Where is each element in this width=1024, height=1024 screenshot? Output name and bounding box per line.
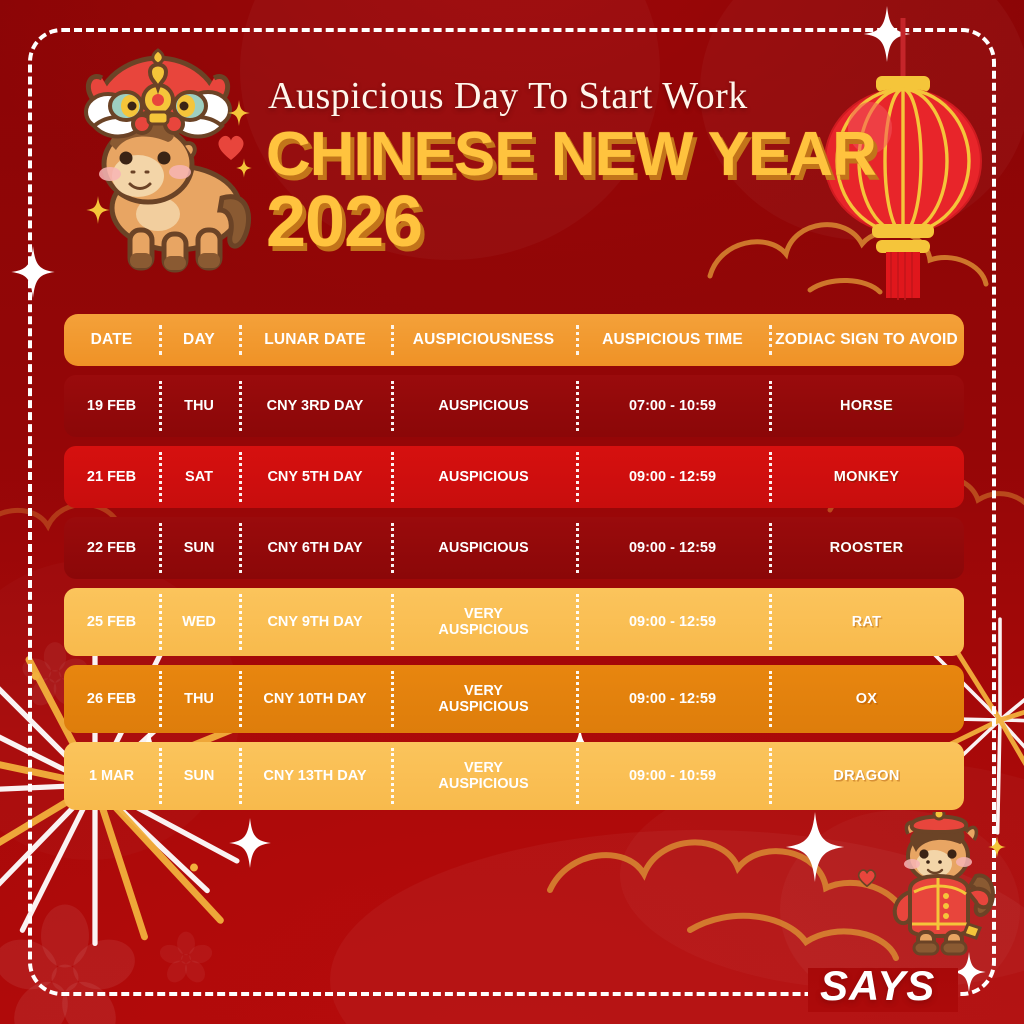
cell-zodiac: MONKEY xyxy=(769,469,964,485)
cell-date: 1 MAR xyxy=(64,768,159,784)
cell-divider xyxy=(576,523,579,573)
column-divider xyxy=(576,325,579,355)
tagline: Auspicious Day To Start Work xyxy=(268,74,748,118)
cell-divider xyxy=(159,523,162,573)
heart-icon xyxy=(216,133,246,161)
cell-lunar-date: CNY 13TH DAY xyxy=(239,768,391,784)
cell-divider xyxy=(159,748,162,804)
cell-date: 26 FEB xyxy=(64,691,159,707)
cell-divider xyxy=(576,748,579,804)
cell-date: 19 FEB xyxy=(64,398,159,414)
cell-time: 09:00 - 12:59 xyxy=(576,614,769,630)
cell-divider xyxy=(391,594,394,650)
cell-day: THU xyxy=(159,691,239,707)
cell-auspiciousness: VERY AUSPICIOUS xyxy=(424,760,544,792)
brand-logo[interactable]: SAYS xyxy=(820,962,935,1010)
cell-lunar-date: CNY 6TH DAY xyxy=(239,540,391,556)
cell-lunar-date: CNY 9TH DAY xyxy=(239,614,391,630)
cell-lunar-date: CNY 3RD DAY xyxy=(239,398,391,414)
cell-divider xyxy=(576,381,579,431)
cell-date: 25 FEB xyxy=(64,614,159,630)
cell-divider xyxy=(391,452,394,502)
cell-auspiciousness: AUSPICIOUS xyxy=(391,398,576,414)
cell-divider xyxy=(576,671,579,727)
cell-auspiciousness: VERY AUSPICIOUS xyxy=(424,683,544,715)
cell-divider xyxy=(769,748,772,804)
column-divider xyxy=(769,325,772,355)
cny-poster: Auspicious Day To Start Work CHINESE NEW… xyxy=(0,0,1024,1024)
cell-divider xyxy=(391,523,394,573)
cell-divider xyxy=(576,594,579,650)
cell-divider xyxy=(769,381,772,431)
cell-divider xyxy=(391,381,394,431)
cell-divider xyxy=(769,452,772,502)
page-title: CHINESE NEW YEAR xyxy=(266,124,876,186)
cell-divider xyxy=(159,671,162,727)
table-row[interactable]: 1 MAR SUN CNY 13TH DAY VERY AUSPICIOUS 0… xyxy=(64,742,964,810)
cell-divider xyxy=(159,381,162,431)
cell-zodiac: DRAGON xyxy=(769,768,964,784)
cell-divider xyxy=(769,523,772,573)
cell-divider xyxy=(769,671,772,727)
column-divider xyxy=(391,325,394,355)
column-header-auspiciousness: AUSPICIOUSNESS xyxy=(391,331,576,349)
table-row[interactable]: 26 FEB THU CNY 10TH DAY VERY AUSPICIOUS … xyxy=(64,665,964,733)
column-divider xyxy=(239,325,242,355)
cell-time: 09:00 - 12:59 xyxy=(576,469,769,485)
year-title: 2026 xyxy=(266,186,422,258)
table-row[interactable]: 22 FEB SUN CNY 6TH DAY AUSPICIOUS 09:00 … xyxy=(64,517,964,579)
cell-divider xyxy=(239,523,242,573)
column-header-auspicious-time: AUSPICIOUS TIME xyxy=(576,331,769,349)
cell-zodiac: OX xyxy=(769,691,964,707)
cell-divider xyxy=(239,452,242,502)
cell-divider xyxy=(391,671,394,727)
column-header-lunar-date: LUNAR DATE xyxy=(239,331,391,349)
cell-divider xyxy=(239,594,242,650)
cell-date: 22 FEB xyxy=(64,540,159,556)
horse-chinese-outfit-mascot xyxy=(880,812,1002,958)
cell-time: 07:00 - 10:59 xyxy=(576,398,769,414)
cell-divider xyxy=(239,748,242,804)
cell-day: SUN xyxy=(159,768,239,784)
table-row[interactable]: 19 FEB THU CNY 3RD DAY AUSPICIOUS 07:00 … xyxy=(64,375,964,437)
sparkle-icon xyxy=(86,196,110,224)
cell-divider xyxy=(159,594,162,650)
heart-icon xyxy=(857,868,877,887)
column-header-day: DAY xyxy=(159,331,239,349)
cell-auspiciousness: VERY AUSPICIOUS xyxy=(424,606,544,638)
cell-zodiac: RAT xyxy=(769,614,964,630)
cell-divider xyxy=(239,671,242,727)
table-row[interactable]: 25 FEB WED CNY 9TH DAY VERY AUSPICIOUS 0… xyxy=(64,588,964,656)
cell-divider xyxy=(159,452,162,502)
auspicious-days-table: DATE DAY LUNAR DATE AUSPICIOUSNESS AUSPI… xyxy=(64,314,964,810)
table-row[interactable]: 21 FEB SAT CNY 5TH DAY AUSPICIOUS 09:00 … xyxy=(64,446,964,508)
cell-zodiac: HORSE xyxy=(769,398,964,414)
cell-day: WED xyxy=(159,614,239,630)
cell-day: SUN xyxy=(159,540,239,556)
cell-auspiciousness: AUSPICIOUS xyxy=(391,540,576,556)
cell-divider xyxy=(239,381,242,431)
cell-zodiac: ROOSTER xyxy=(769,540,964,556)
cell-day: THU xyxy=(159,398,239,414)
sparkle-icon xyxy=(228,100,250,126)
cell-lunar-date: CNY 5TH DAY xyxy=(239,469,391,485)
cell-divider xyxy=(769,594,772,650)
cell-time: 09:00 - 10:59 xyxy=(576,768,769,784)
cell-auspiciousness: AUSPICIOUS xyxy=(391,469,576,485)
cell-divider xyxy=(391,748,394,804)
cell-divider xyxy=(576,452,579,502)
sparkle-icon xyxy=(236,158,252,178)
cell-day: SAT xyxy=(159,469,239,485)
cell-time: 09:00 - 12:59 xyxy=(576,691,769,707)
sparkle-icon xyxy=(988,836,1006,858)
column-header-date: DATE xyxy=(64,331,159,349)
cell-time: 09:00 - 12:59 xyxy=(576,540,769,556)
column-divider xyxy=(159,325,162,355)
column-header-zodiac-to-avoid: ZODIAC SIGN TO AVOID xyxy=(769,331,964,349)
cell-date: 21 FEB xyxy=(64,469,159,485)
table-header-row: DATE DAY LUNAR DATE AUSPICIOUSNESS AUSPI… xyxy=(64,314,964,366)
cell-lunar-date: CNY 10TH DAY xyxy=(239,691,391,707)
